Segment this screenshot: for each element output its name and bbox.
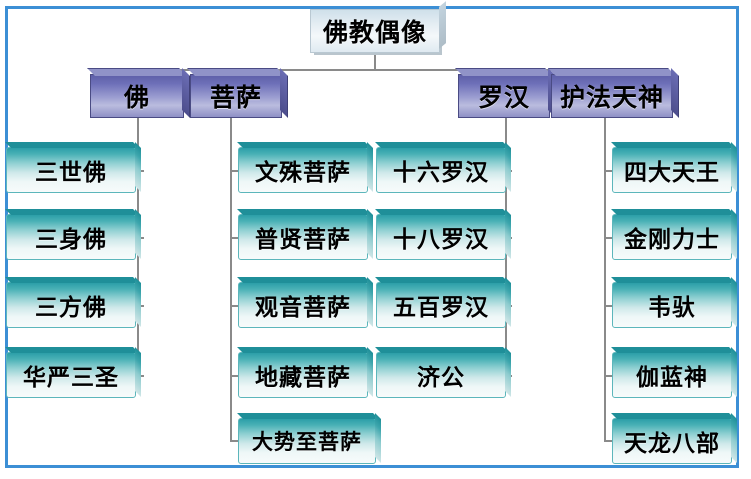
node-leaf-label: 三身佛 xyxy=(35,220,107,254)
node-leaf[interactable]: 伽蓝神 xyxy=(612,352,732,398)
node-leaf-label: 五百罗汉 xyxy=(393,288,489,322)
node-side-face xyxy=(731,347,737,397)
node-side-face xyxy=(731,413,737,463)
node-side-face xyxy=(505,277,511,327)
node-top-face xyxy=(5,347,139,353)
node-leaf-label: 三世佛 xyxy=(35,153,107,187)
node-leaf[interactable]: 三世佛 xyxy=(6,147,136,193)
node-top-face xyxy=(548,68,676,76)
node-leaf[interactable]: 天龙八部 xyxy=(612,418,732,464)
node-side-face xyxy=(375,413,381,463)
node-level2-luohan-label: 罗汉 xyxy=(478,78,530,114)
node-top-face xyxy=(375,142,509,148)
node-leaf-label: 地藏菩萨 xyxy=(255,358,351,392)
node-leaf-label: 天龙八部 xyxy=(624,424,720,458)
node-level2-pusa-label: 菩萨 xyxy=(210,78,262,114)
node-top-face xyxy=(5,209,139,215)
diagram-canvas: 佛教偶像 佛 菩萨 罗汉 护法天神 三世佛 三身佛 三方佛 xyxy=(0,0,751,479)
node-top-face xyxy=(375,277,509,283)
node-top-face xyxy=(455,68,553,76)
node-side-face xyxy=(505,209,511,259)
node-top-face xyxy=(611,142,735,148)
node-leaf[interactable]: 普贤菩萨 xyxy=(238,214,368,260)
node-leaf[interactable]: 金刚力士 xyxy=(612,214,732,260)
node-leaf[interactable]: 十八罗汉 xyxy=(376,214,506,260)
node-side-face xyxy=(505,142,511,192)
node-top-face xyxy=(187,68,285,76)
node-side-face xyxy=(135,209,141,259)
node-leaf[interactable]: 观音菩萨 xyxy=(238,282,368,328)
node-side-face xyxy=(505,347,511,397)
node-top-face xyxy=(5,277,139,283)
node-leaf[interactable]: 三方佛 xyxy=(6,282,136,328)
connector-spine-hufa xyxy=(604,118,606,440)
node-side-face xyxy=(367,142,373,192)
node-level2-fo-label: 佛 xyxy=(124,78,150,114)
node-leaf[interactable]: 华严三圣 xyxy=(6,352,136,398)
node-level2-fo[interactable]: 佛 xyxy=(90,74,184,118)
node-leaf-label: 观音菩萨 xyxy=(255,288,351,322)
node-leaf-label: 华严三圣 xyxy=(23,358,119,392)
connector-root-down xyxy=(374,53,376,70)
node-top-face xyxy=(237,142,371,148)
node-side-face xyxy=(135,277,141,327)
node-top-face xyxy=(87,68,187,76)
node-leaf[interactable]: 十六罗汉 xyxy=(376,147,506,193)
node-leaf-label: 十八罗汉 xyxy=(393,220,489,254)
node-top-face xyxy=(611,347,735,353)
node-level2-pusa[interactable]: 菩萨 xyxy=(190,74,282,118)
node-level2-luohan[interactable]: 罗汉 xyxy=(458,74,550,118)
node-leaf-label: 三方佛 xyxy=(35,288,107,322)
node-side-face xyxy=(135,347,141,397)
node-leaf-label: 大势至菩萨 xyxy=(252,426,362,456)
node-top-face xyxy=(5,142,139,148)
node-leaf-label: 金刚力士 xyxy=(624,220,720,254)
node-side-face xyxy=(182,68,190,118)
node-leaf[interactable]: 地藏菩萨 xyxy=(238,352,368,398)
node-leaf[interactable]: 三身佛 xyxy=(6,214,136,260)
node-side-face xyxy=(671,68,679,118)
node-side-face xyxy=(731,142,737,192)
node-side-face xyxy=(367,209,373,259)
node-level2-hufa[interactable]: 护法天神 xyxy=(551,74,673,118)
node-leaf-label: 济公 xyxy=(417,358,465,392)
node-top-face xyxy=(237,209,371,215)
node-leaf-label: 普贤菩萨 xyxy=(255,220,351,254)
connector-spine-pusa xyxy=(230,118,232,440)
node-side-face xyxy=(367,277,373,327)
node-leaf-label: 文殊菩萨 xyxy=(255,153,351,187)
node-leaf[interactable]: 五百罗汉 xyxy=(376,282,506,328)
node-leaf[interactable]: 韦驮 xyxy=(612,282,732,328)
node-leaf-label: 韦驮 xyxy=(648,288,696,322)
node-root-label: 佛教偶像 xyxy=(323,13,427,49)
node-top-face xyxy=(611,209,735,215)
node-top-face xyxy=(611,413,735,419)
node-top-face xyxy=(611,277,735,283)
node-level2-hufa-label: 护法天神 xyxy=(560,78,664,114)
node-leaf[interactable]: 济公 xyxy=(376,352,506,398)
node-leaf[interactable]: 大势至菩萨 xyxy=(238,418,376,464)
node-top-face xyxy=(375,347,509,353)
node-leaf-label: 伽蓝神 xyxy=(636,358,708,392)
node-side-face xyxy=(731,209,737,259)
node-side-face xyxy=(731,277,737,327)
node-root[interactable]: 佛教偶像 xyxy=(310,9,440,53)
node-side-face xyxy=(135,142,141,192)
node-leaf-label: 十六罗汉 xyxy=(393,153,489,187)
node-side-face xyxy=(280,68,288,118)
node-top-face xyxy=(237,347,371,353)
node-top-face xyxy=(237,413,379,419)
node-side-face xyxy=(367,347,373,397)
node-leaf-label: 四大天王 xyxy=(624,153,720,187)
node-top-face xyxy=(237,277,371,283)
node-top-face xyxy=(375,209,509,215)
node-leaf[interactable]: 四大天王 xyxy=(612,147,732,193)
node-leaf[interactable]: 文殊菩萨 xyxy=(238,147,368,193)
